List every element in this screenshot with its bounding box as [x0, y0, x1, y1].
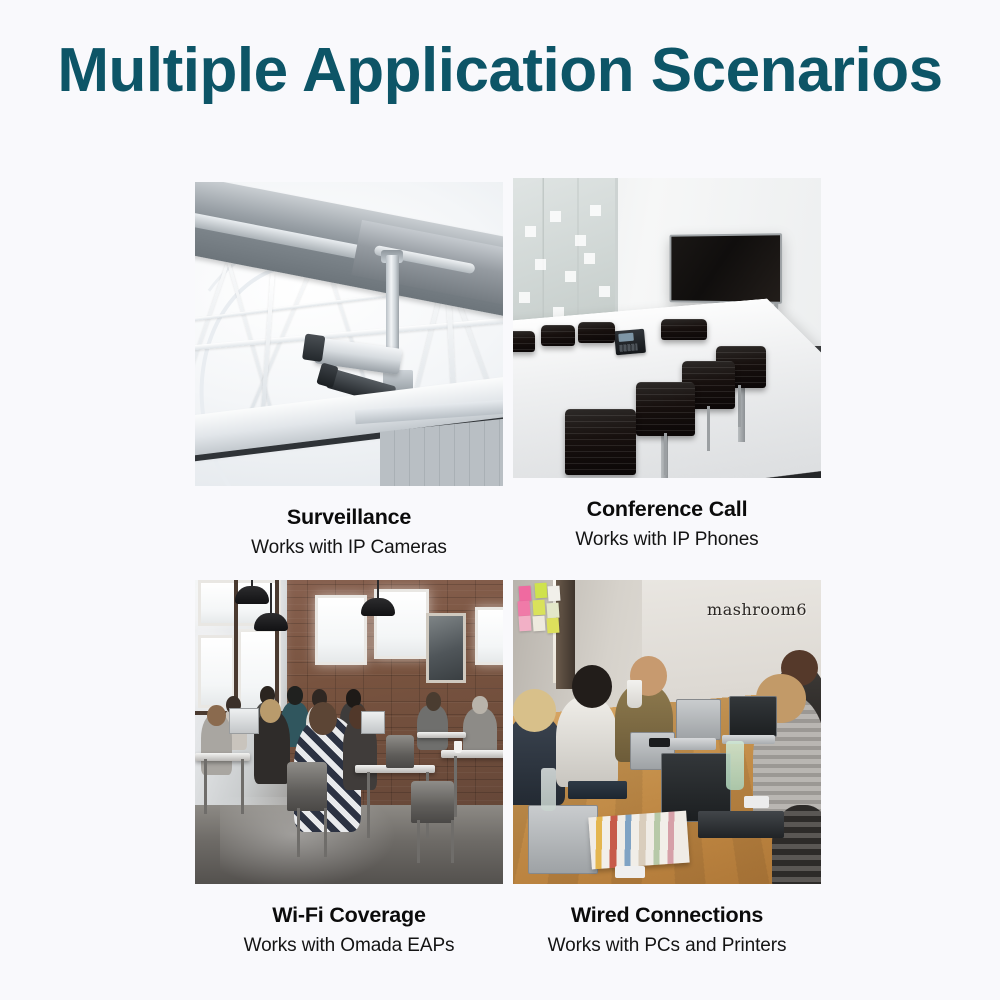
chair-head-of-table [661, 319, 707, 340]
frost-square [519, 292, 530, 303]
frost-square [550, 211, 561, 222]
table-leg [241, 759, 244, 814]
worker-darkhair-left [556, 696, 618, 787]
water-bottle-clear [541, 768, 556, 811]
smartphone-bottom [615, 866, 646, 878]
laptop-base-mid-left [667, 738, 716, 750]
sticky-note [548, 586, 561, 602]
cafe-person-head [287, 686, 302, 704]
scenario-row-1: Surveillance Works with IP Cameras [0, 178, 1000, 356]
cafe-laptop-1 [229, 708, 259, 734]
cafe-cup-2 [454, 741, 462, 753]
wall-window-1 [315, 595, 367, 665]
color-swatch-book [588, 810, 689, 869]
cafe-person-head [260, 699, 282, 723]
wired-connections-subtitle: Works with PCs and Printers [513, 928, 821, 958]
sticky-note [534, 583, 547, 599]
chair-far-left-3 [578, 322, 615, 343]
cafe-person-head [472, 696, 487, 714]
smartphone-on-table [649, 738, 671, 747]
scenario-row-2: Wi-Fi Coverage Works with Omada EAPs [0, 356, 1000, 776]
sticky-note [517, 601, 530, 617]
smartphone-right [744, 796, 769, 808]
notebook-dark [568, 781, 627, 799]
sticky-note [519, 586, 532, 602]
frost-square [575, 235, 586, 246]
laptop-lid-back-center [676, 699, 721, 741]
cafe-table-right [441, 750, 503, 758]
cafe-person-back-6 [417, 705, 448, 751]
chair-leg [324, 808, 327, 857]
frost-square [599, 286, 610, 297]
window-mullion-2 [275, 580, 279, 720]
frost-square [525, 226, 536, 237]
page-title: Multiple Application Scenarios [0, 38, 1000, 103]
wifi-coverage-title: Wi-Fi Coverage [195, 903, 503, 928]
wifi-coverage-subtitle: Works with Omada EAPs [195, 928, 503, 958]
water-bottle-green [726, 741, 744, 790]
pendant-light-3 [361, 598, 395, 616]
sticky-note [519, 616, 532, 632]
cafe-person-head [207, 705, 225, 726]
wifi-coverage-photo [195, 580, 503, 884]
frost-square [535, 259, 546, 270]
cafe-chair-right [411, 781, 454, 824]
frost-square [590, 205, 601, 216]
cafe-table-back [417, 732, 466, 738]
chair-leg [417, 820, 420, 863]
scenario-card-wifi-coverage[interactable]: Wi-Fi Coverage Works with Omada EAPs [195, 580, 503, 958]
table-leg [367, 772, 370, 839]
sticky-note [546, 618, 559, 634]
cafe-chair-foreground [287, 762, 327, 811]
sticky-note [546, 602, 559, 618]
wired-connections-photo: mashroom6 [513, 580, 821, 884]
wall-mounted-tv [670, 233, 782, 303]
worker-head [572, 665, 612, 708]
table-leg [454, 756, 457, 817]
wall-window-3 [475, 607, 503, 665]
scenario-grid: Surveillance Works with IP Cameras [0, 178, 1000, 776]
chair-leg [297, 808, 300, 857]
wall-sign-mashroom6: mashroom6 [707, 600, 807, 619]
worker-head [513, 689, 556, 732]
chair-leg [451, 820, 454, 863]
cafe-person-head [426, 692, 441, 710]
frost-square [584, 253, 595, 264]
cafe-laptop-2 [361, 711, 385, 734]
laptop-lid-bottom-left [528, 805, 598, 874]
scenario-card-wired-connections[interactable]: mashroom6 [513, 580, 821, 958]
table-leg [204, 759, 207, 814]
pendant-light-1 [235, 586, 269, 604]
frost-square [565, 271, 576, 282]
sticky-note [533, 599, 546, 615]
cafe-person-head [309, 702, 337, 735]
coffee-cup [627, 680, 642, 707]
wifi-coverage-caption: Wi-Fi Coverage Works with Omada EAPs [195, 884, 503, 958]
pendant-light-2 [254, 613, 288, 631]
cafe-person-back-7 [463, 708, 497, 757]
laptop-base-foreground [698, 811, 784, 838]
wired-connections-title: Wired Connections [513, 903, 821, 928]
sticky-note [533, 616, 546, 632]
ip-desk-phone [614, 328, 646, 355]
chair-far-left-1 [513, 331, 535, 352]
laptop-lid-back-right [729, 696, 777, 738]
wired-connections-caption: Wired Connections Works with PCs and Pri… [513, 884, 821, 958]
wall-artwork [426, 613, 466, 683]
chair-far-left-2 [541, 325, 575, 346]
cafe-chair-back-right [386, 735, 414, 768]
